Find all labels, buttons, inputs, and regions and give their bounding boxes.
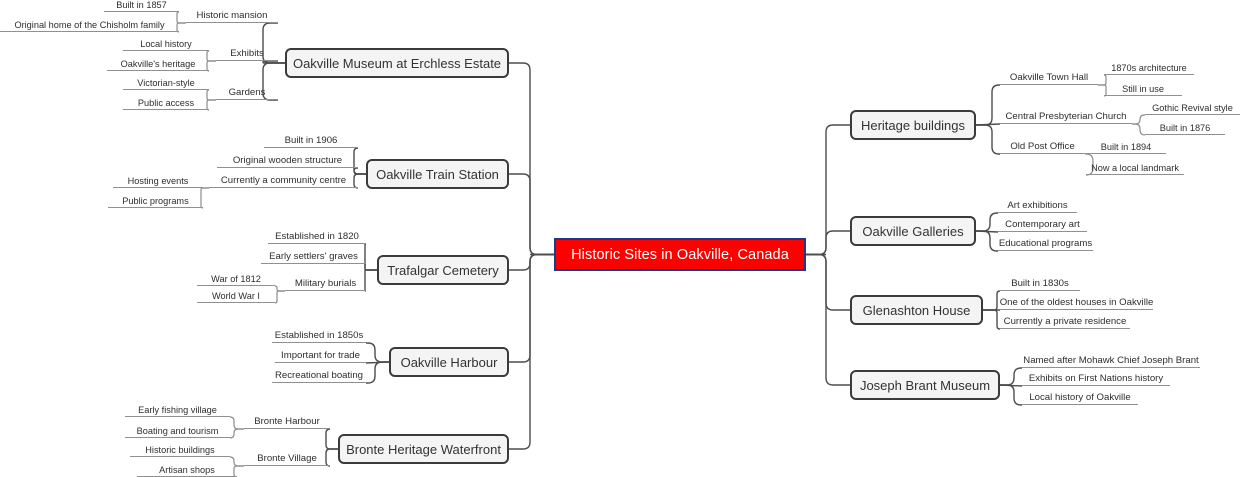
branch-node-heritage-buildings[interactable]: Heritage buildings [850,110,976,140]
subnode-exhibits-first-nations[interactable]: Exhibits on First Nations history [1022,372,1170,386]
subnode-built-in-1830s[interactable]: Built in 1830s [1000,277,1080,291]
subnode-important-for-trade[interactable]: Important for trade [275,349,366,363]
subnode-old-post-office[interactable]: Old Post Office [1000,140,1085,154]
branch-node-oakville-train-station[interactable]: Oakville Train Station [366,159,509,189]
leaf-public-access[interactable]: Public access [123,96,209,110]
subnode-gardens[interactable]: Gardens [216,86,278,100]
branch-node-bronte-heritage-waterfront[interactable]: Bronte Heritage Waterfront [338,434,509,464]
leaf-1870s-architecture[interactable]: 1870s architecture [1104,61,1194,75]
leaf-still-in-use[interactable]: Still in use [1104,82,1182,96]
leaf-oakvilles-heritage[interactable]: Oakville's heritage [107,57,209,71]
branch-node-glenashton-house[interactable]: Glenashton House [850,295,983,325]
subnode-recreational-boating[interactable]: Recreational boating [272,369,366,383]
leaf-public-programs[interactable]: Public programs [108,194,203,208]
subnode-military-burials[interactable]: Military burials [285,277,366,291]
leaf-early-fishing-village[interactable]: Early fishing village [125,403,230,417]
subnode-educational-programs[interactable]: Educational programs [998,237,1093,251]
subnode-oldest-houses-oakville[interactable]: One of the oldest houses in Oakville [1000,296,1153,310]
subnode-currently-community-centre[interactable]: Currently a community centre [209,174,358,188]
subnode-art-exhibitions[interactable]: Art exhibitions [998,199,1077,213]
leaf-boating-and-tourism[interactable]: Boating and tourism [125,424,230,438]
leaf-local-history[interactable]: Local history [123,37,209,51]
subnode-central-presbyterian-church[interactable]: Central Presbyterian Church [1000,110,1132,124]
subnode-established-1820[interactable]: Established in 1820 [268,230,366,244]
leaf-now-a-local-landmark[interactable]: Now a local landmark [1086,161,1184,175]
subnode-bronte-village[interactable]: Bronte Village [244,452,330,466]
leaf-gothic-revival-style[interactable]: Gothic Revival style [1145,101,1240,115]
subnode-contemporary-art[interactable]: Contemporary art [998,218,1087,232]
branch-node-oakville-museum[interactable]: Oakville Museum at Erchless Estate [285,48,509,78]
branch-node-oakville-harbour[interactable]: Oakville Harbour [389,347,509,377]
subnode-historic-mansion[interactable]: Historic mansion [186,9,278,23]
leaf-built-in-1894[interactable]: Built in 1894 [1086,140,1166,154]
subnode-exhibits[interactable]: Exhibits [216,47,278,61]
subnode-named-after-joseph-brant[interactable]: Named after Mohawk Chief Joseph Brant [1022,354,1200,368]
leaf-war-of-1812[interactable]: War of 1812 [197,272,275,286]
root-node[interactable]: Historic Sites in Oakville, Canada [554,238,806,271]
subnode-oakville-town-hall[interactable]: Oakville Town Hall [1000,71,1098,85]
subnode-established-1850s[interactable]: Established in 1850s [272,329,366,343]
branch-node-oakville-galleries[interactable]: Oakville Galleries [850,216,976,246]
mindmap-canvas: Historic Sites in Oakville, Canada Oakvi… [0,0,1240,476]
leaf-victorian-style[interactable]: Victorian-style [123,76,209,90]
subnode-bronte-harbour[interactable]: Bronte Harbour [244,415,330,429]
leaf-built-in-1857[interactable]: Built in 1857 [104,0,179,12]
leaf-original-home-chisholm[interactable]: Original home of the Chisholm family [0,18,179,32]
leaf-historic-buildings[interactable]: Historic buildings [130,443,230,457]
branch-node-trafalgar-cemetery[interactable]: Trafalgar Cemetery [377,255,509,285]
subnode-built-in-1906[interactable]: Built in 1906 [264,134,358,148]
subnode-early-settlers-graves[interactable]: Early settlers' graves [261,250,366,264]
leaf-world-war-i[interactable]: World War I [197,289,275,303]
subnode-original-wooden-structure[interactable]: Original wooden structure [217,154,358,168]
subnode-currently-private-residence[interactable]: Currently a private residence [1000,315,1130,329]
leaf-hosting-events[interactable]: Hosting events [113,174,203,188]
subnode-local-history-oakville[interactable]: Local history of Oakville [1022,391,1138,405]
leaf-artisan-shops[interactable]: Artisan shops [137,463,237,477]
leaf-built-in-1876[interactable]: Built in 1876 [1145,121,1225,135]
branch-node-joseph-brant-museum[interactable]: Joseph Brant Museum [850,370,1000,400]
